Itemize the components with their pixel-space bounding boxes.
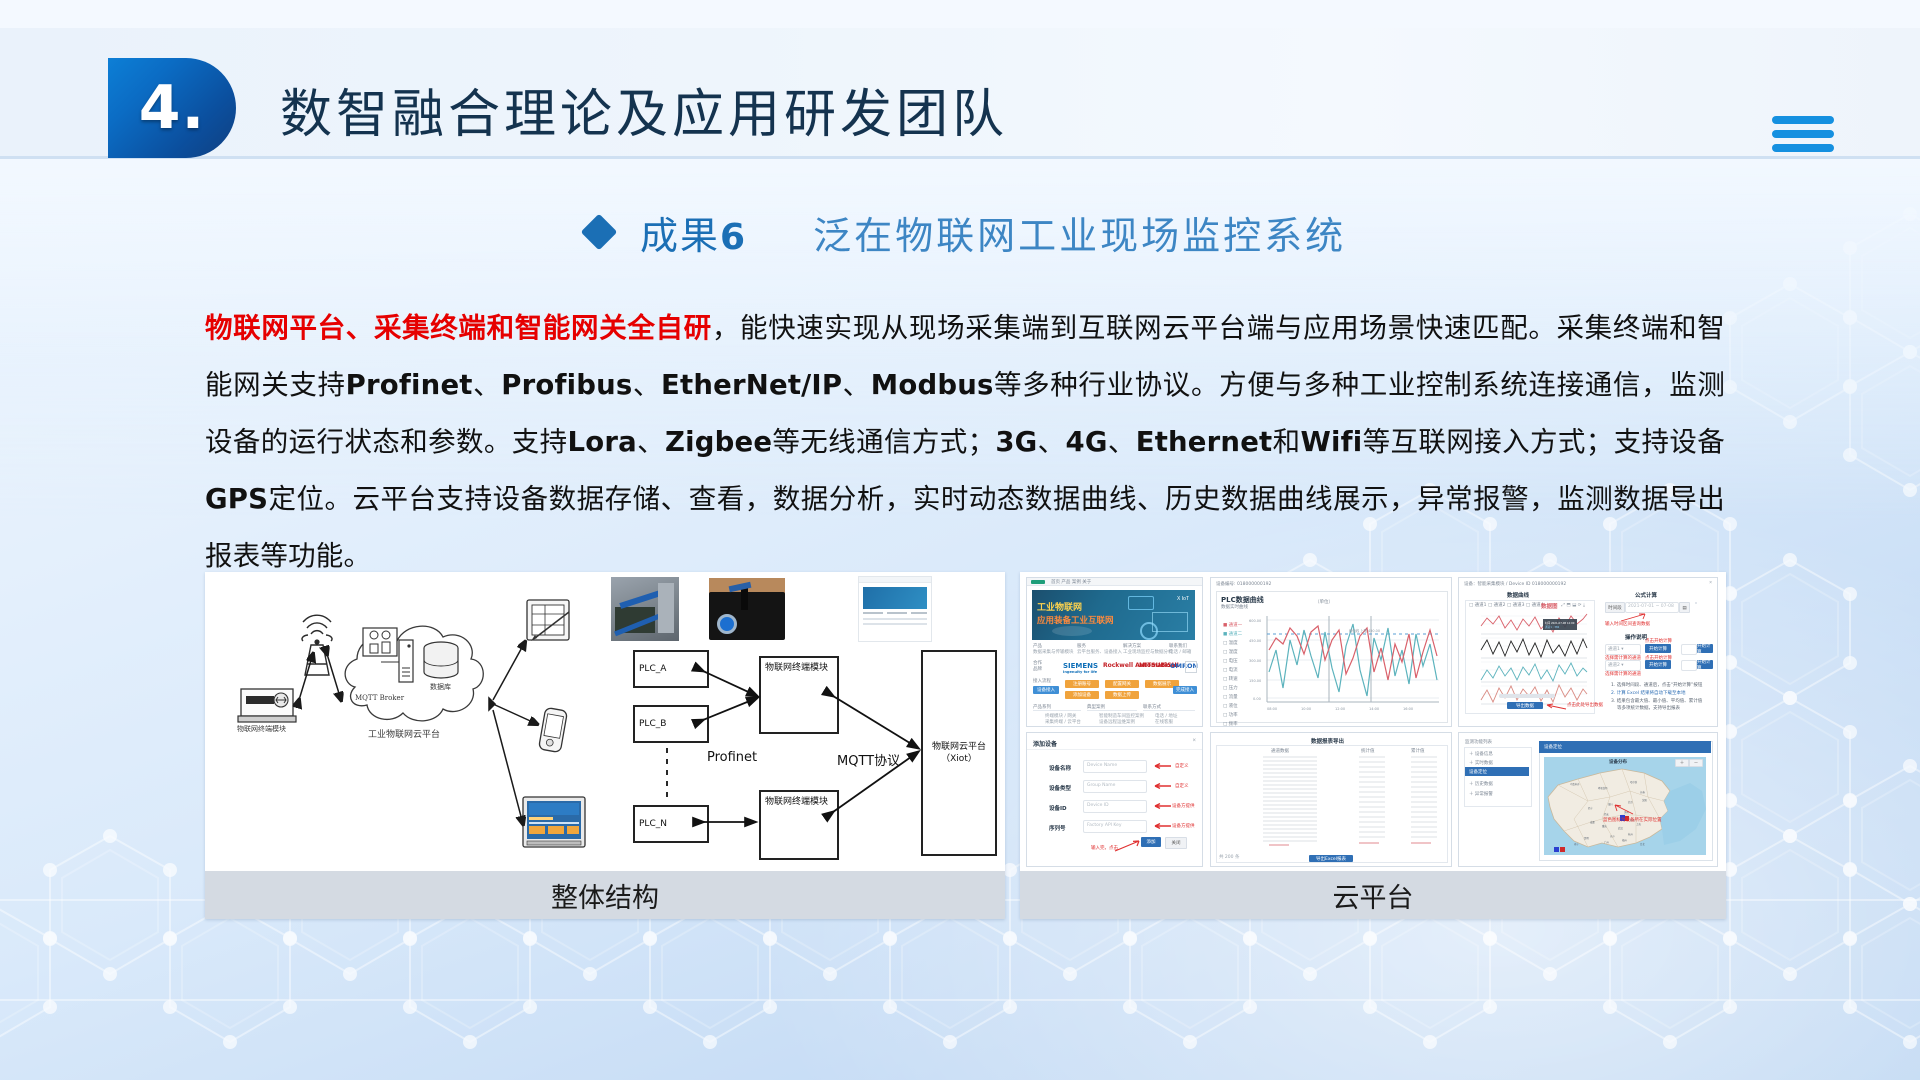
description-paragraph: 物联网平台、采集终端和智能网关全自研，能快速实现从现场采集端到互联网云平台端与应… — [205, 300, 1725, 585]
svg-text:10:00: 10:00 — [1301, 707, 1311, 711]
paragraph-segment-2: Profinet — [346, 369, 473, 401]
map-zoom-out-button[interactable]: － — [1689, 759, 1703, 767]
paragraph-segment-16: 4G — [1066, 426, 1108, 458]
plc-diagram: PLC_A PLC_B PLC_N 物联网终端模块 物联网终端模块 物联网云平台… — [603, 572, 1005, 871]
architecture-svg — [205, 572, 600, 871]
antenna-tower-icon — [302, 615, 332, 675]
paragraph-segment-18: Ethernet — [1136, 426, 1273, 458]
svg-text:12:00: 12:00 — [1335, 707, 1345, 711]
paragraph-segment-21: 等互联网接入方式；支持设备 — [1362, 426, 1725, 458]
calc-button-4[interactable]: 开始计算 — [1697, 660, 1713, 669]
paragraph-segment-6: EtherNet/IP — [661, 369, 842, 401]
formula-select-3[interactable] — [1681, 644, 1697, 655]
svg-text:昆明: 昆明 — [1584, 836, 1589, 840]
portal-brand-tag: X IoT — [1177, 596, 1189, 602]
map-title: 设备分布 — [1609, 759, 1627, 765]
paragraph-segment-22: GPS — [205, 483, 268, 515]
phone-icon — [539, 707, 568, 752]
map-zoom-in-button[interactable]: ＋ — [1675, 759, 1689, 767]
paragraph-segment-12: Zigbee — [665, 426, 772, 458]
screen-plc-chart: 设备编号: 018000000192 PLC数据曲线 数据实时曲线 （单位） — [1210, 577, 1452, 727]
formula-section-title: 操作说明 — [1625, 633, 1647, 641]
map-panel-title: 设备定位 — [1544, 744, 1562, 750]
svg-text:台北: 台北 — [1640, 842, 1645, 846]
svg-text:14:00: 14:00 — [1369, 707, 1379, 711]
data-table-rows — [1219, 753, 1443, 853]
panel-overall-structure: 物联网终端模块 MQTT Broker 数据库 工业物联网云平台 — [205, 572, 1005, 919]
achievement-label-group: 成果6 — [640, 205, 747, 260]
paragraph-segment-15: 、 — [1037, 426, 1065, 458]
right-panel-caption: 云平台 — [1020, 871, 1726, 919]
calc-button-3[interactable]: 开始计算 — [1697, 644, 1713, 653]
svg-text:16:00: 16:00 — [1403, 707, 1413, 711]
formula-note-left: 输入时间区间查询数据 — [1605, 621, 1650, 627]
svg-text:阈值线 上限 450.00: 阈值线 上限 450.00 — [1349, 628, 1380, 633]
screen-add-device-dialog: 添加设备 × 设备名称 Device Name 自定义 设备类型 Group N… — [1026, 732, 1203, 867]
paragraph-segment-13: 等无线通信方式； — [772, 426, 995, 458]
arch-label-database: 数据库 — [430, 682, 451, 692]
paragraph-segment-11: 、 — [637, 426, 665, 458]
paragraph-segment-17: 、 — [1108, 426, 1136, 458]
achievement-number: 6 — [720, 217, 747, 258]
plc-chart-device-id: 设备编号: 018000000192 — [1216, 581, 1271, 587]
achievement-subtitle-row: 成果6 泛在物联网工业现场监控系统 — [0, 196, 1920, 268]
menu-bar-2 — [1772, 130, 1834, 138]
calendar-icon-left[interactable]: ▤ — [1679, 602, 1690, 613]
tablet-icon — [527, 600, 569, 641]
svg-text:西宁: 西宁 — [1588, 806, 1593, 810]
left-panel-stage: 物联网终端模块 MQTT Broker 数据库 工业物联网云平台 — [205, 572, 1005, 871]
menu-bar-3 — [1772, 144, 1834, 152]
paragraph-segment-19: 和 — [1272, 426, 1300, 458]
screen-curves-formula: 设备：智能采集模块 / Device ID 018000000192 × 数据曲… — [1458, 577, 1718, 727]
paragraph-segment-4: Profibus — [501, 369, 632, 401]
svg-text:广州: 广州 — [1604, 840, 1609, 844]
arch-label-terminal-module: 物联网终端模块 — [237, 724, 286, 734]
achievement-title: 泛在物联网工业现场监控系统 — [813, 205, 1346, 260]
paragraph-segment-7: 、 — [842, 369, 871, 401]
svg-text:长沙: 长沙 — [1610, 834, 1615, 838]
curves-close-icon[interactable]: × — [1709, 580, 1712, 586]
svg-text:长春: 长春 — [1640, 790, 1645, 794]
svg-text:武汉: 武汉 — [1618, 826, 1623, 830]
dialog-cancel-button[interactable]: 关闭 — [1165, 837, 1187, 849]
svg-text:通道1 : 382: 通道1 : 382 — [1545, 625, 1560, 629]
arch-label-cloud: 工业物联网云平台 — [368, 727, 440, 740]
paragraph-segment-0: 物联网平台、采集终端和智能网关全自研 — [205, 312, 712, 344]
svg-text:成都: 成都 — [1590, 820, 1595, 824]
paragraph-segment-5: 、 — [632, 369, 661, 401]
curves-tab-right[interactable]: 公式计算 — [1635, 591, 1657, 599]
section-number-badge: 4. — [108, 58, 236, 158]
svg-text:杭州: 杭州 — [1628, 832, 1633, 836]
calc-button-2[interactable]: 开始计算 — [1645, 660, 1671, 669]
page-title: 数智融合理论及应用研发团队 — [280, 72, 1008, 147]
arch-label-mqtt-broker: MQTT Broker — [355, 694, 404, 702]
cloud-platform-screens: 首页 产品 案例 关于 工业物联网 应用装备工业互联网 X IoT 产品 数据采… — [1020, 572, 1726, 871]
svg-text:重庆: 重庆 — [1602, 824, 1607, 828]
svg-text:南宁: 南宁 — [1574, 842, 1579, 846]
svg-text:08:00: 08:00 — [1267, 707, 1277, 711]
hamburger-menu-icon[interactable] — [1772, 116, 1834, 152]
portal-banner-title: 工业物联网 — [1037, 600, 1082, 613]
terminal-device-icon — [238, 689, 296, 722]
svg-text:时间 2021-07-08 12:00: 时间 2021-07-08 12:00 — [1545, 621, 1575, 625]
dialog-title: 添加设备 — [1033, 739, 1057, 748]
map-marker-note: 蓝色图标为设备所在实际位置 — [1603, 817, 1662, 823]
data-table-title: 数据报表导出 — [1311, 737, 1344, 745]
dialog-close-icon[interactable]: × — [1192, 738, 1196, 744]
vendor-siemens: SIEMENS — [1063, 662, 1098, 670]
slide-header: 4. 数智融合理论及应用研发团队 — [0, 28, 1920, 159]
formula-select-4[interactable] — [1681, 660, 1697, 671]
curves-svg: 时间 2021-07-08 12:00 通道1 : 382 — [1469, 610, 1589, 706]
menu-bar-1 — [1772, 116, 1834, 124]
svg-text:沈阳: 沈阳 — [1642, 798, 1647, 802]
svg-text:乌鲁木齐: 乌鲁木齐 — [1570, 782, 1580, 786]
paragraph-segment-3: 、 — [473, 369, 502, 401]
curves-range-slider[interactable] — [1499, 694, 1555, 698]
achievement-label: 成果 — [640, 214, 720, 258]
curves-tab-left[interactable]: 数据曲线 — [1507, 591, 1529, 599]
screen-device-map: 监测功能列表 ＋ 设备信息 ＋ 实时数据 设备定位 ＋ 历史数据 ＋ 异常报警 … — [1458, 732, 1718, 867]
paragraph-segment-10: Lora — [568, 426, 637, 458]
dialog-submit-button[interactable]: 添加 — [1141, 837, 1161, 847]
paragraph-segment-23: 定位。云平台支持设备数据存储、查看，数据分析，实时动态数据曲线、历史数据曲线展示… — [205, 483, 1725, 572]
plc-arrows — [603, 572, 1005, 871]
calc-button-1[interactable]: 开始计算 — [1645, 644, 1671, 653]
svg-text:呼和浩特: 呼和浩特 — [1598, 786, 1608, 790]
export-excel-button[interactable]: 导出Excel报表 — [1309, 855, 1353, 862]
paragraph-segment-20: Wifi — [1300, 426, 1362, 458]
paragraph-segment-14: 3G — [995, 426, 1037, 458]
left-panel-caption: 整体结构 — [205, 871, 1005, 919]
section-number: 4. — [139, 73, 206, 143]
curves-legend: 数据图 — [1541, 602, 1558, 610]
paragraph-segment-8: Modbus — [871, 369, 994, 401]
monitor-icon — [523, 797, 585, 847]
screen-portal: 首页 产品 案例 关于 工业物联网 应用装备工业互联网 X IoT 产品 数据采… — [1026, 577, 1203, 727]
curves-export-button[interactable]: 导出数据 — [1507, 702, 1543, 709]
architecture-diagram: 物联网终端模块 MQTT Broker 数据库 工业物联网云平台 — [205, 572, 600, 871]
panel-cloud-platform: 首页 产品 案例 关于 工业物联网 应用装备工业互联网 X IoT 产品 数据采… — [1020, 572, 1726, 919]
svg-text:福州: 福州 — [1622, 838, 1627, 842]
svg-text:哈尔滨: 哈尔滨 — [1630, 780, 1638, 784]
database-icon — [424, 642, 458, 678]
diamond-bullet-icon — [581, 214, 618, 251]
screen-data-table: 数据报表导出 通道数据 统计值 累计值 — [1210, 732, 1452, 867]
portal-banner-subtitle: 应用装备工业互联网 — [1037, 614, 1114, 626]
right-panel-stage: 首页 产品 案例 关于 工业物联网 应用装备工业互联网 X IoT 产品 数据采… — [1020, 572, 1726, 871]
